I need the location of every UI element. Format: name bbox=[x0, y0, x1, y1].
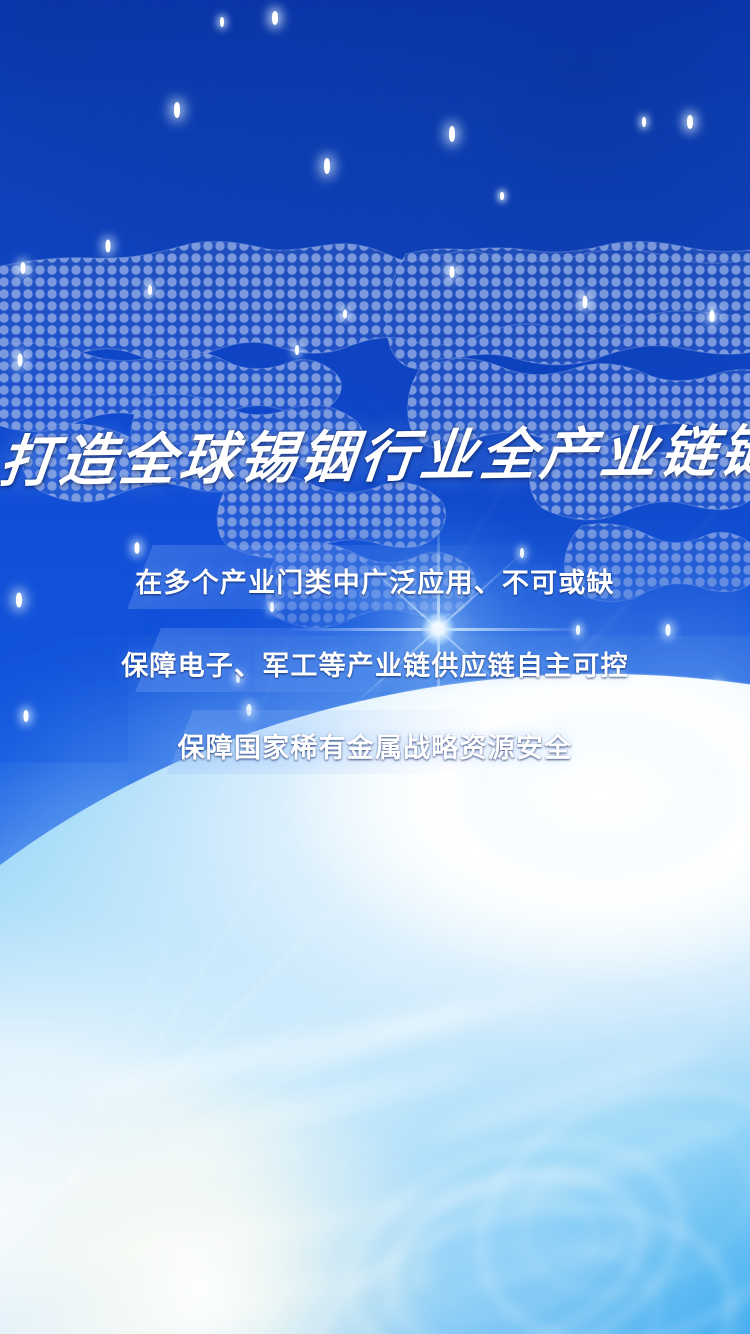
sparkle-icon bbox=[106, 240, 111, 253]
flare-core bbox=[421, 612, 455, 646]
sparkle-icon bbox=[270, 602, 274, 612]
star-flare-icon bbox=[437, 628, 439, 630]
sparkle-icon bbox=[666, 624, 671, 636]
poster-root: 打造全球锡铟行业全产业链链主 在多个产业门类中广泛应用、不可或缺 保障电子、军工… bbox=[0, 0, 750, 1334]
sparkle-icon bbox=[174, 102, 180, 118]
sparkle-icon bbox=[295, 345, 299, 355]
sparkle-icon bbox=[220, 17, 224, 27]
subtitle-line-3: 保障国家稀有金属战略资源安全 bbox=[0, 726, 750, 765]
sparkle-icon bbox=[24, 710, 29, 722]
sparkle-icon bbox=[18, 354, 23, 367]
sparkle-icon bbox=[687, 115, 693, 129]
sparkle-icon bbox=[583, 296, 588, 309]
sparkle-icon bbox=[21, 262, 26, 274]
sparkle-icon bbox=[272, 11, 278, 25]
sparkle-icon bbox=[449, 126, 455, 142]
sparkle-icon bbox=[135, 542, 140, 554]
subtitle-line-1: 在多个产业门类中广泛应用、不可或缺 bbox=[0, 561, 750, 600]
sparkle-icon bbox=[343, 310, 347, 319]
sparkle-icon bbox=[500, 192, 504, 200]
subtitle-line-2: 保障电子、军工等产业链供应链自主可控 bbox=[0, 644, 750, 683]
page-title: 打造全球锡铟行业全产业链链主 bbox=[0, 413, 750, 503]
sparkle-icon bbox=[324, 158, 330, 174]
sparkle-icon bbox=[642, 117, 646, 127]
sparkle-icon bbox=[450, 266, 455, 278]
sparkle-icon bbox=[148, 285, 152, 295]
sparkle-icon bbox=[247, 704, 252, 716]
sparkle-icon bbox=[710, 310, 715, 322]
